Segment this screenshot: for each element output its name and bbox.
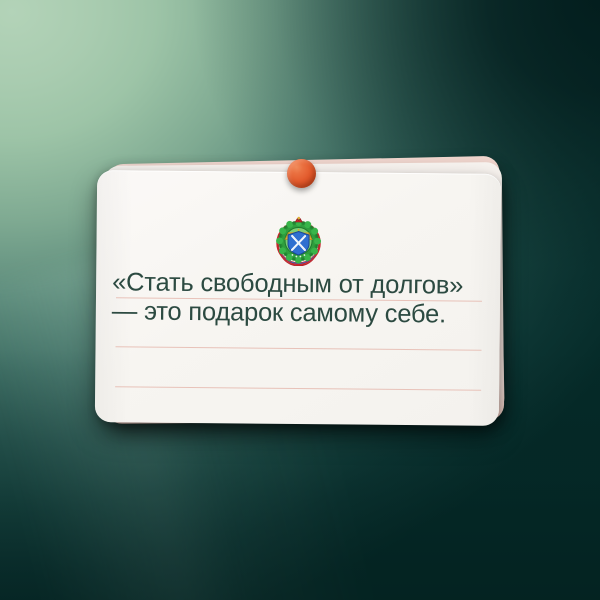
pushpin-icon (287, 159, 316, 188)
quote-text: «Стать свободным от долгов» — это подаро… (112, 268, 487, 329)
poster-canvas: «Стать свободным от долгов» — это подаро… (0, 0, 600, 600)
quote-line-2: — это подарок самому себе. (112, 297, 486, 329)
rule-line-2 (116, 346, 482, 351)
fssp-emblem-icon (272, 216, 324, 266)
emblem-container (96, 214, 500, 268)
note-card-front: «Стать свободным от долгов» — это подаро… (95, 170, 501, 426)
rule-line-3 (115, 386, 481, 391)
note-card-stack: «Стать свободным от долгов» — это подаро… (96, 158, 506, 426)
quote-line-1: «Стать свободным от долгов» (112, 268, 486, 300)
